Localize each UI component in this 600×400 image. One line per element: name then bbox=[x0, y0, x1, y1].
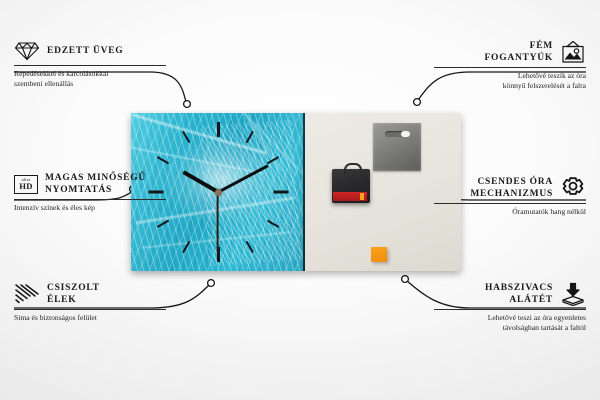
divider bbox=[434, 67, 586, 68]
hour-marker bbox=[157, 156, 169, 164]
gear-icon bbox=[560, 176, 586, 200]
hour-marker bbox=[182, 131, 190, 143]
callout-title-group: CSENDES ÓRA MECHANIZMUS bbox=[470, 176, 553, 200]
hour-hand bbox=[182, 170, 219, 193]
callout-description: Sima és biztonságos felület bbox=[14, 313, 166, 323]
callout-csiszolt-elek: CSISZOLT ÉLEK Sima és biztonságos felüle… bbox=[14, 282, 166, 323]
mechanism-loop bbox=[344, 163, 362, 174]
callout-description: Lehetővé teszik az óra könnyű felszerelé… bbox=[434, 71, 586, 90]
callout-title-line-1: CSENDES ÓRA bbox=[470, 176, 553, 188]
product-infographic: EDZETT ÜVEG Repedésekkel és karcolásokka… bbox=[0, 0, 600, 400]
divider bbox=[434, 203, 586, 204]
callout-magas-minosegu-nyomtatas: ultra HD MAGAS MINŐSÉGŰ NYOMTATÁS Intenz… bbox=[14, 172, 166, 213]
callout-csendes-ora-mechanizmus: CSENDES ÓRA MECHANIZMUS Óramutatók hang … bbox=[434, 176, 586, 217]
hour-marker bbox=[246, 241, 254, 253]
polished-edge-icon bbox=[14, 283, 40, 305]
metal-hanger-plate bbox=[373, 123, 421, 171]
callout-description: Repedésekkel és karcolásokkal szembeni e… bbox=[14, 69, 166, 88]
callout-title-line-2: ALÁTÉT bbox=[485, 294, 553, 306]
callout-title-line-1: HABSZIVACS bbox=[485, 282, 553, 294]
diamond-icon bbox=[14, 40, 40, 62]
callout-habszivacs-alatet: HABSZIVACS ALÁTÉT Lehetővé teszi az óra … bbox=[434, 282, 586, 332]
hour-marker bbox=[182, 241, 190, 253]
callout-description: Intenzív színek és éles kép bbox=[14, 203, 166, 213]
quartz-mechanism bbox=[332, 169, 370, 203]
minute-hand bbox=[217, 164, 268, 193]
callout-title-group: HABSZIVACS ALÁTÉT bbox=[485, 282, 553, 306]
callout-description: Óramutatók hang nélkül bbox=[434, 207, 586, 217]
callout-title-line-2: ÉLEK bbox=[47, 294, 100, 306]
hour-marker bbox=[246, 131, 254, 143]
callout-title-group: FÉM FOGANTYÚK bbox=[485, 40, 554, 64]
callout-fem-fogantyuk: FÉM FOGANTYÚK Lehetővé teszik az óra kön… bbox=[434, 40, 586, 90]
connector-endpoint bbox=[414, 99, 421, 106]
divider bbox=[14, 199, 166, 200]
callout-title-group: MAGAS MINŐSÉGŰ NYOMTATÁS bbox=[45, 172, 146, 196]
connector-endpoint bbox=[208, 280, 215, 287]
callout-title-line-1: CSISZOLT bbox=[47, 282, 100, 294]
ultra-hd-icon: ultra HD bbox=[14, 175, 38, 194]
hour-marker bbox=[157, 220, 169, 228]
ultra-hd-icon-large-label: HD bbox=[19, 182, 33, 191]
connector-endpoint bbox=[402, 276, 409, 283]
callout-title: EDZETT ÜVEG bbox=[47, 45, 123, 57]
connector-endpoint bbox=[184, 101, 191, 108]
picture-hanger-icon bbox=[560, 40, 586, 64]
callout-title-line-2: NYOMTATÁS bbox=[45, 184, 146, 196]
battery-label bbox=[333, 192, 367, 201]
hour-marker bbox=[267, 220, 279, 228]
callout-title-group: CSISZOLT ÉLEK bbox=[47, 282, 100, 306]
callout-title-line-2: FOGANTYÚK bbox=[485, 52, 554, 64]
foam-pad-icon bbox=[560, 282, 586, 306]
foam-pad bbox=[371, 247, 387, 262]
callout-title-line-1: FÉM bbox=[485, 40, 554, 52]
divider bbox=[434, 309, 586, 310]
hour-marker bbox=[273, 191, 288, 194]
hour-marker bbox=[217, 122, 220, 137]
second-hand bbox=[217, 192, 219, 252]
product-image bbox=[131, 113, 461, 271]
callout-description: Lehetővé teszi az óra egyenletes távolsá… bbox=[434, 313, 586, 332]
divider bbox=[14, 65, 166, 66]
divider bbox=[14, 309, 166, 310]
hour-marker bbox=[267, 156, 279, 164]
hanger-slot bbox=[385, 131, 410, 137]
callout-title-line-2: MECHANIZMUS bbox=[470, 188, 553, 200]
callout-edzett-uveg: EDZETT ÜVEG Repedésekkel és karcolásokka… bbox=[14, 40, 166, 88]
hand-center-cap bbox=[215, 189, 222, 196]
callout-title-line-1: MAGAS MINŐSÉGŰ bbox=[45, 172, 146, 184]
